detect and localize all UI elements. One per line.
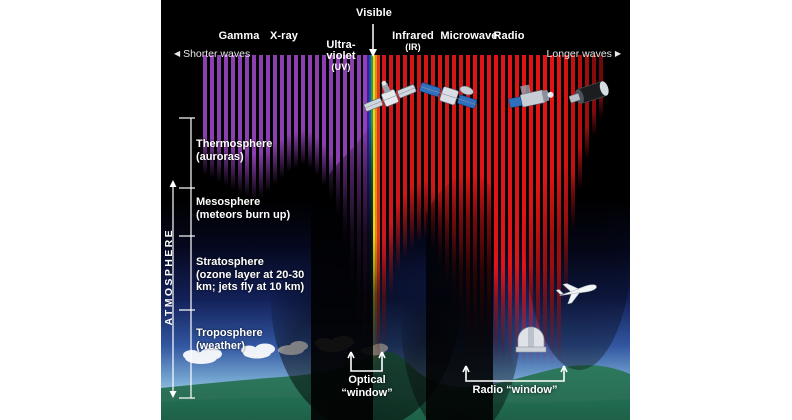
spectrum-bar-gamma-4 — [231, 55, 235, 190]
diagram-panel: Thermosphere (auroras) Mesosphere (meteo… — [161, 0, 630, 420]
jet-airplane — [557, 278, 599, 304]
spectrum-bar-radio-47 — [501, 55, 505, 366]
layer-label-stratosphere: Stratosphere (ozone layer at 20-30 km; j… — [196, 256, 304, 294]
longer-waves-text: Longer waves — [547, 48, 612, 60]
spectrum-bar-radio-44 — [480, 55, 484, 366]
optical-window-label: Optical “window” — [331, 374, 403, 399]
right-arrow-icon: ▶ — [615, 49, 621, 58]
layer-label-troposphere: Troposphere (weather) — [196, 327, 263, 352]
band-label-infrared-text: Infrared — [392, 30, 434, 42]
spectrum-bar-xray-10 — [273, 55, 277, 185]
optical-observatory — [514, 320, 548, 354]
layer-label-mesosphere: Mesosphere (meteors burn up) — [196, 196, 290, 221]
spectrum-bar-xray-7 — [252, 55, 256, 200]
spectrum-bar-xray-12 — [287, 55, 291, 172]
spectrum-bar-gamma-3 — [224, 55, 228, 186]
spectrum-bar-gamma-5 — [238, 55, 242, 194]
layer-label-thermosphere: Thermosphere (auroras) — [196, 138, 272, 163]
band-label-ultraviolet-sub: (UV) — [317, 62, 365, 73]
em-spectrum-atmosphere-figure: Thermosphere (auroras) Mesosphere (meteo… — [0, 0, 792, 420]
band-label-xray: X-ray — [257, 31, 311, 42]
gamma-satellite — [359, 78, 421, 118]
band-label-visible: Visible — [343, 8, 405, 19]
xray-satellite — [417, 76, 479, 116]
hubble-telescope — [507, 82, 559, 116]
spectrum-bar-uv-14 — [301, 55, 305, 165]
spectrum-bar-xray-11 — [280, 55, 284, 178]
band-label-ultraviolet: Ultra- violet (UV) — [317, 29, 365, 84]
band-label-ultraviolet-text: Ultra- violet — [326, 39, 355, 62]
spectrum-bar-gamma-6 — [245, 55, 249, 197]
shorter-waves-text: Shorter waves — [183, 48, 250, 60]
spectrum-bar-xray-9 — [266, 55, 270, 192]
shorter-waves-label: ◀ Shorter waves — [174, 48, 250, 60]
spectrum-bar-radio-45 — [487, 55, 491, 366]
spectrum-bar-xray-13 — [294, 55, 298, 168]
longer-waves-label: Longer waves ▶ — [547, 48, 621, 60]
left-arrow-icon: ◀ — [174, 49, 180, 58]
spectrum-bar-xray-8 — [259, 55, 263, 198]
radio-window-label: Radio “window” — [453, 384, 577, 397]
spectrum-bar-uv-21 — [350, 55, 354, 285]
spectrum-bar-radio-46 — [494, 55, 498, 366]
atmosphere-axis-label: ATMOSPHERE — [163, 228, 175, 325]
band-label-infrared-sub: (IR) — [383, 42, 443, 53]
spectrum-bar-uv-15 — [308, 55, 312, 168]
band-label-radio: Radio — [485, 31, 533, 42]
infrared-telescope — [567, 76, 617, 110]
